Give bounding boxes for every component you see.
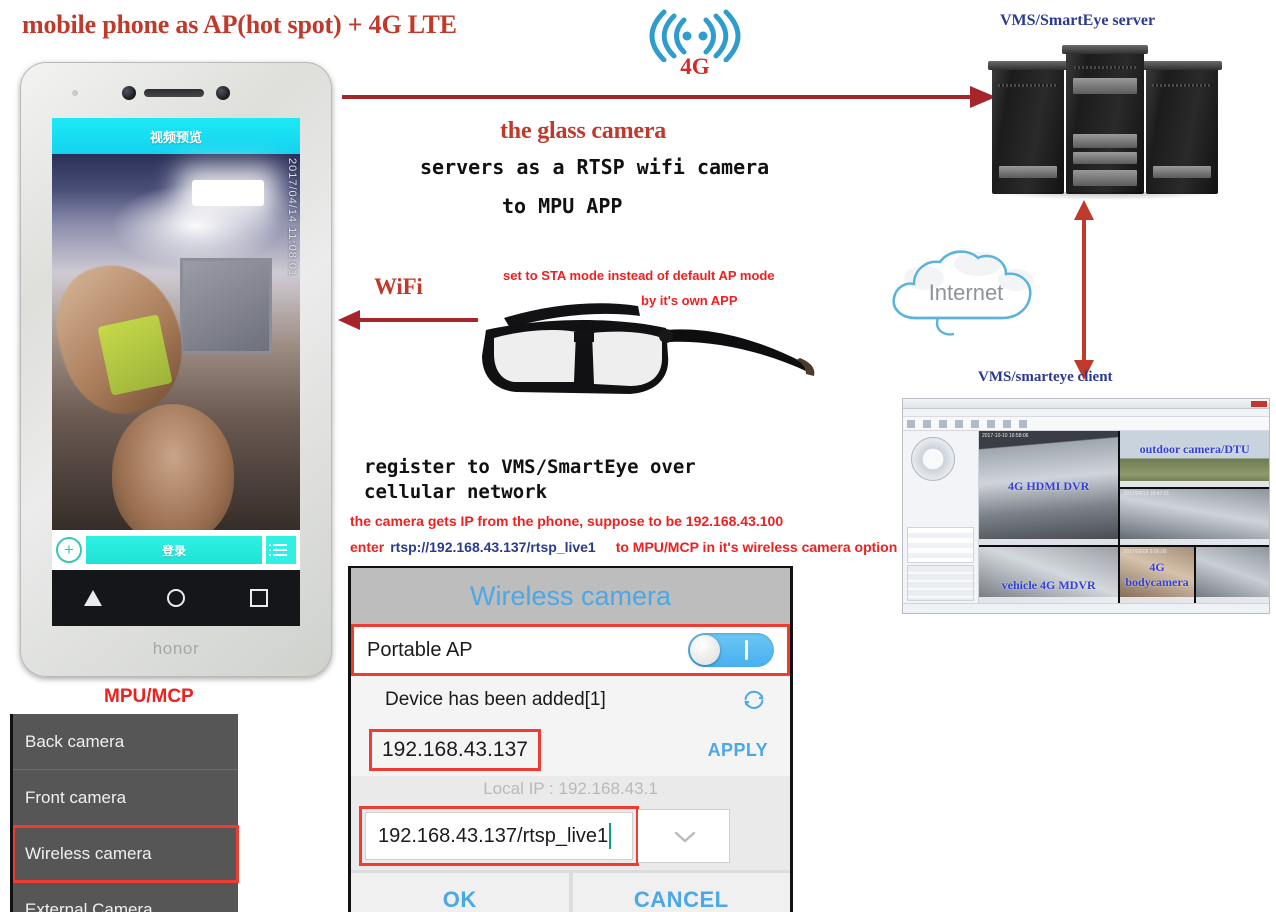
tile-caption: 4G bodycamera [1120, 560, 1193, 590]
tile-statusbar [1120, 539, 1269, 545]
local-ip-label: Local IP : 192.168.43.1 [351, 776, 790, 802]
mobile-phone-photo: 视频预览 2017/04/14 11:08:01 + 登录 honor [20, 62, 332, 677]
arrow-server-client-bidirectional [1072, 200, 1096, 380]
server-label: VMS/SmartEye server [1000, 12, 1155, 30]
sidebar-item-wireless-camera[interactable]: Wireless camera [13, 826, 238, 882]
server-tower-right [1146, 68, 1218, 194]
video-preview-area[interactable] [52, 154, 300, 552]
server-shadow [990, 192, 1220, 200]
earpiece-speaker [144, 89, 204, 97]
internet-label: Internet [886, 280, 1046, 306]
tile-statusbar [1120, 481, 1269, 487]
person-face [112, 404, 234, 544]
portable-ap-row[interactable]: Portable AP [351, 624, 790, 676]
list-icon[interactable] [266, 536, 296, 564]
device-added-row: Device has been added[1] [351, 676, 790, 724]
device-added-label: Device has been added[1] [385, 689, 606, 711]
ptz-control-icon[interactable] [911, 437, 955, 481]
sta-mode-note-line-1: set to STA mode instead of default AP mo… [503, 268, 775, 283]
phone-bezel [20, 62, 332, 118]
sidebar-item-label: Wireless camera [25, 844, 152, 864]
url-dropdown-button[interactable] [638, 809, 730, 863]
rtsp-url-input[interactable]: 192.168.43.137/rtsp_live1 [365, 812, 633, 860]
video-tile-bodycamera[interactable]: 2017/09/08 8:06:00 4G bodycamera [1120, 547, 1193, 603]
client-label: VMS/smarteye client [978, 369, 1113, 386]
square-recents-icon[interactable] [250, 589, 268, 607]
android-navigation-bar [52, 570, 300, 626]
tile-caption: outdoor camera/DTU [1120, 442, 1269, 457]
client-body: 2017-10-10 16:58:06 4G HDMI DVR outdoor … [903, 431, 1269, 603]
sidebar-item-label: External Camera [25, 900, 153, 912]
sidebar-item-back-camera[interactable]: Back camera [13, 714, 238, 770]
refresh-icon[interactable] [740, 686, 768, 714]
tile-caption: 4G HDMI DVR [979, 479, 1118, 494]
triangle-back-icon[interactable] [84, 590, 102, 606]
vms-server-photo [990, 48, 1220, 200]
proximity-sensor [72, 90, 78, 96]
login-button[interactable]: 登录 [86, 536, 262, 564]
register-note-line-2: cellular network [364, 480, 547, 504]
glass-camera-title: the glass camera [500, 118, 666, 145]
sidebar-item-label: Back camera [25, 732, 124, 752]
video-tile-extra[interactable] [1196, 547, 1269, 603]
portable-ap-toggle[interactable] [688, 633, 774, 667]
cancel-button[interactable]: CANCEL [573, 873, 791, 912]
wifi-label: WiFi [374, 274, 423, 300]
diagram-canvas: mobile phone as AP(hot spot) + 4G LTE 视频… [0, 0, 1276, 912]
dialog-title: Wireless camera [351, 568, 790, 624]
device-ip-value[interactable]: 192.168.43.137 [369, 729, 541, 771]
circle-home-icon[interactable] [167, 589, 185, 607]
menu-left-rule [10, 714, 13, 912]
register-note-line-1: register to VMS/SmartEye over [364, 455, 696, 479]
ok-button[interactable]: OK [351, 873, 569, 912]
video-tile-indoor[interactable]: 2017/04/13 10:47:21 [1120, 489, 1269, 545]
page-title: mobile phone as AP(hot spot) + 4G LTE [22, 10, 457, 40]
front-camera-lens [122, 86, 136, 100]
toggle-on-mark [745, 640, 748, 660]
device-tree[interactable] [907, 527, 974, 563]
vms-client-screenshot[interactable]: 2017-10-10 16:58:06 4G HDMI DVR outdoor … [902, 398, 1270, 614]
glass-camera-line-1: servers as a RTSP wifi camera [420, 155, 769, 179]
tile-caption: vehicle 4G MDVR [979, 578, 1118, 593]
arrow-glasses-to-phone [338, 305, 488, 335]
ceiling-panel [180, 258, 272, 354]
wifi-signal-icon: 4G [640, 6, 750, 80]
client-left-pane[interactable] [903, 431, 979, 603]
tile-timestamp: 2017/09/08 8:06:00 [1123, 549, 1166, 555]
mpu-camera-source-menu: Back camera Front camera Wireless camera… [10, 714, 238, 912]
dialog-action-bar: OK CANCEL [351, 870, 790, 912]
light-reflection [192, 180, 264, 206]
sidebar-item-label: Front camera [25, 788, 126, 808]
internet-cloud-icon: Internet [886, 242, 1046, 342]
video-tile-main[interactable]: 2017-10-10 16:58:06 4G HDMI DVR [979, 431, 1118, 545]
client-window-titlebar [903, 399, 1269, 409]
portable-ap-label: Portable AP [367, 639, 473, 662]
video-tile-vehicle[interactable]: vehicle 4G MDVR [979, 547, 1118, 603]
device-ip-row[interactable]: 192.168.43.137 APPLY [351, 724, 790, 776]
glasses-camera-photo [470, 296, 820, 416]
rtsp-url-row[interactable]: 192.168.43.137/rtsp_live1 [351, 802, 790, 870]
glass-camera-line-2: to MPU APP [502, 194, 622, 218]
url-highlight-box: 192.168.43.137/rtsp_live1 [359, 806, 639, 866]
video-wall-grid[interactable]: 2017-10-10 16:58:06 4G HDMI DVR outdoor … [979, 431, 1269, 603]
server-tower-center [1066, 52, 1144, 194]
app-titlebar: 视频预览 [52, 118, 300, 154]
wireless-camera-dialog[interactable]: Wireless camera Portable AP Device has b… [348, 566, 793, 912]
video-timestamp-overlay: 2017/04/14 11:08:01 [286, 158, 298, 277]
close-icon[interactable] [1251, 401, 1267, 407]
chevron-down-icon [674, 830, 694, 842]
arrow-phone-to-server [340, 82, 1000, 112]
toggle-knob[interactable] [690, 635, 720, 665]
server-tower-left [992, 68, 1064, 194]
app-bottom-toolbar: + 登录 [52, 530, 300, 570]
enter-prefix: enter [350, 539, 384, 555]
rtsp-url-text: rtsp://192.168.43.137/rtsp_live1 [390, 539, 595, 555]
phone-brand-logo: honor [20, 639, 332, 659]
sidebar-item-external-camera[interactable]: External Camera [13, 882, 238, 912]
enter-url-note: enter rtsp://192.168.43.137/rtsp_live1 t… [350, 539, 897, 555]
four-g-label: 4G [640, 54, 750, 80]
client-statusbar [903, 603, 1269, 613]
tile-statusbar [979, 539, 1118, 545]
camera-ip-note: the camera gets IP from the phone, suppo… [350, 513, 783, 529]
sidebar-title: MPU/MCP [104, 686, 194, 708]
client-menubar[interactable] [903, 409, 1269, 417]
phone-screen[interactable]: 视频预览 2017/04/14 11:08:01 + 登录 [52, 118, 300, 626]
apply-button[interactable]: APPLY [708, 740, 768, 761]
secondary-sensor [216, 86, 230, 100]
text-caret [609, 823, 611, 849]
sidebar-item-front-camera[interactable]: Front camera [13, 770, 238, 826]
client-toolbar[interactable] [903, 417, 1269, 431]
tile-timestamp: 2017-10-10 16:58:06 [982, 433, 1028, 439]
client-button-stack[interactable] [907, 565, 974, 601]
rtsp-url-value: 192.168.43.137/rtsp_live1 [378, 825, 608, 848]
tile-timestamp: 2017/04/13 10:47:21 [1123, 491, 1169, 497]
plus-circle-icon[interactable]: + [56, 537, 82, 563]
enter-suffix: to MPU/MCP in it's wireless camera optio… [616, 539, 898, 555]
video-tile-outdoor[interactable]: outdoor camera/DTU [1120, 431, 1269, 487]
